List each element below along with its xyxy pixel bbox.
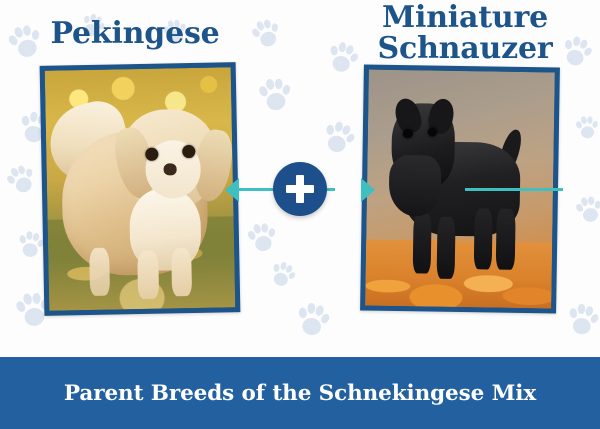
right-breed-title-line2: Schnauzer bbox=[330, 33, 600, 64]
dog-leg bbox=[412, 212, 432, 274]
dog-eye-right bbox=[427, 127, 436, 137]
dog-leg bbox=[171, 248, 192, 296]
dog-leg bbox=[474, 208, 494, 270]
left-breed-photo-frame[interactable] bbox=[40, 62, 241, 316]
connector-line-right bbox=[465, 188, 563, 191]
plus-icon-vertical-bar bbox=[296, 175, 304, 203]
plus-icon-badge bbox=[273, 162, 327, 216]
paw-print-icon bbox=[293, 297, 333, 340]
paw-print-icon bbox=[572, 191, 600, 227]
paw-print-icon bbox=[564, 298, 600, 339]
dog-leg bbox=[496, 208, 516, 270]
paw-print-icon bbox=[244, 218, 280, 257]
dog-leg bbox=[137, 251, 158, 299]
parent-breeds-infographic: Pekingese Miniature Schnauzer bbox=[0, 0, 600, 429]
dog-leg bbox=[436, 217, 456, 279]
right-breed-title: Miniature Schnauzer bbox=[330, 2, 600, 64]
dog-nose bbox=[164, 163, 177, 175]
caption-text: Parent Breeds of the Schnekingese Mix bbox=[64, 381, 536, 406]
arrow-right-icon bbox=[361, 178, 375, 202]
paw-print-icon bbox=[574, 113, 600, 142]
pekingese-photo bbox=[45, 67, 236, 311]
caption-banner: Parent Breeds of the Schnekingese Mix bbox=[0, 357, 600, 429]
breed-connector bbox=[225, 160, 375, 218]
left-breed-title: Pekingese bbox=[0, 18, 270, 49]
photo-ground bbox=[365, 239, 552, 308]
dog-leg bbox=[89, 247, 110, 295]
right-breed-title-line1: Miniature bbox=[382, 0, 548, 35]
paw-print-icon bbox=[266, 256, 300, 292]
dog-eye-right bbox=[182, 145, 195, 158]
paw-print-icon bbox=[318, 115, 360, 159]
paw-print-icon bbox=[1, 158, 41, 199]
dog-eye-left bbox=[403, 129, 412, 139]
paw-print-icon bbox=[256, 73, 295, 115]
